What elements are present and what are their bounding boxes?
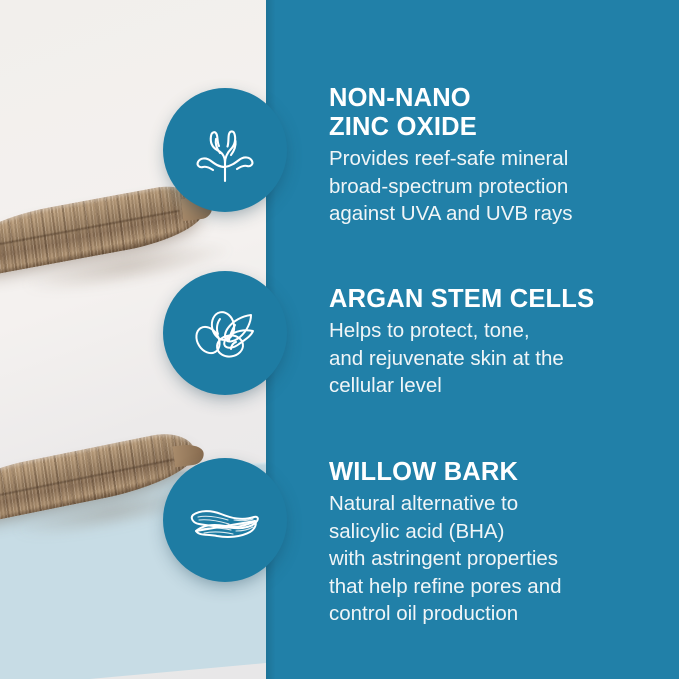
coral-icon	[163, 88, 287, 212]
feature-text-zinc-oxide: NON-NANO ZINC OXIDE Provides reef-safe m…	[329, 84, 649, 228]
feature-text-argan-stem-cells: ARGAN STEM CELLS Helps to protect, tone,…	[329, 285, 649, 400]
willow-bark-icon	[163, 458, 287, 582]
feature-body: Helps to protect, tone, and rejuvenate s…	[329, 317, 649, 400]
feature-title: ARGAN STEM CELLS	[329, 285, 649, 314]
argan-nuts-icon	[163, 271, 287, 395]
ingredient-benefits-infographic: NON-NANO ZINC OXIDE Provides reef-safe m…	[0, 0, 679, 679]
feature-body: Natural alternative to salicylic acid (B…	[329, 490, 649, 628]
feature-text-willow-bark: WILLOW BARK Natural alternative to salic…	[329, 458, 649, 628]
feature-body: Provides reef-safe mineral broad-spectru…	[329, 145, 649, 228]
feature-title: NON-NANO ZINC OXIDE	[329, 84, 649, 142]
feature-title: WILLOW BARK	[329, 458, 649, 487]
